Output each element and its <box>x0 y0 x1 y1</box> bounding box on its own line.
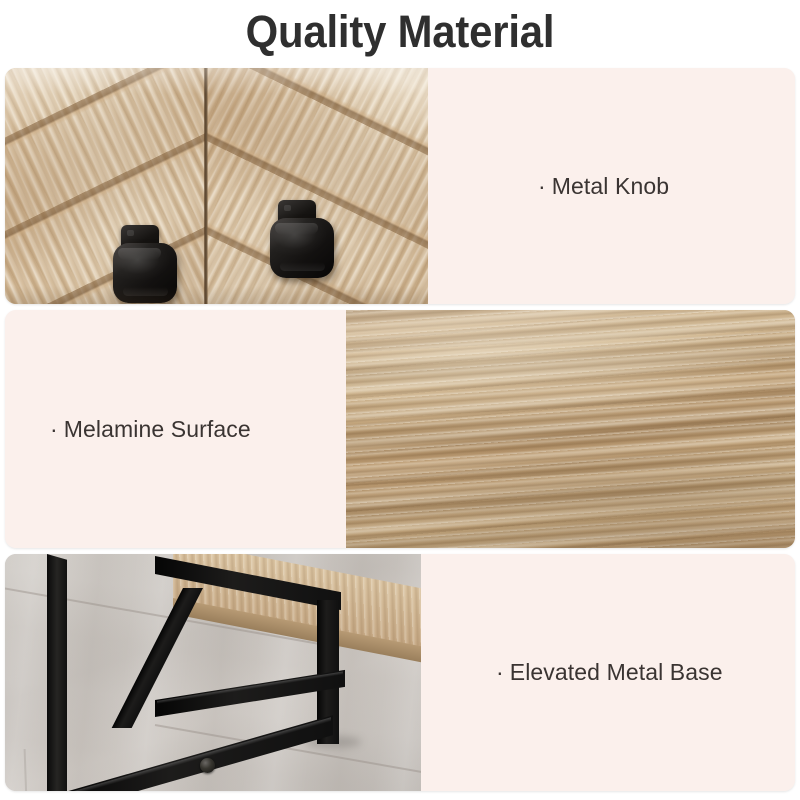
bullet-dot: · <box>496 659 504 685</box>
product-feature-infographic: Quality Material <box>0 0 800 800</box>
feature-caption-melamine-surface: ·Melamine Surface <box>50 416 251 443</box>
feature-caption-pane-elevated-metal-base: ·Elevated Metal Base <box>421 554 795 791</box>
bullet-dot: · <box>50 416 58 442</box>
cabinet-doors-photo <box>5 68 428 304</box>
metal-base-rear-leg <box>47 554 67 791</box>
page-title: Quality Material <box>246 6 555 58</box>
feature-caption-elevated-metal-base: ·Elevated Metal Base <box>496 659 723 686</box>
feature-panel-melamine-surface: ·Melamine Surface <box>5 310 795 548</box>
feature-caption-pane-melamine-surface: ·Melamine Surface <box>5 310 346 548</box>
knob-body <box>270 218 334 278</box>
feature-caption-pane-metal-knob: ·Metal Knob <box>428 68 795 304</box>
metal-base-photo <box>5 554 421 791</box>
feature-image-metal-knob <box>5 68 428 304</box>
feature-panel-metal-knob: ·Metal Knob <box>5 68 795 304</box>
feature-image-melamine-surface <box>346 310 795 548</box>
feature-image-elevated-metal-base <box>5 554 421 791</box>
feature-label-elevated-metal-base: Elevated Metal Base <box>510 659 723 685</box>
feature-label-melamine-surface: Melamine Surface <box>64 416 251 442</box>
knob-body <box>113 243 177 303</box>
feature-caption-metal-knob: ·Metal Knob <box>538 173 669 200</box>
door-seam <box>204 68 208 304</box>
assembly-bolt <box>200 758 215 773</box>
melamine-sheen <box>346 310 795 548</box>
page-title-bar: Quality Material <box>0 0 800 64</box>
bullet-dot: · <box>538 173 546 199</box>
melamine-surface-photo <box>346 310 795 548</box>
feature-label-metal-knob: Metal Knob <box>552 173 669 199</box>
feature-panel-elevated-metal-base: ·Elevated Metal Base <box>5 554 795 791</box>
